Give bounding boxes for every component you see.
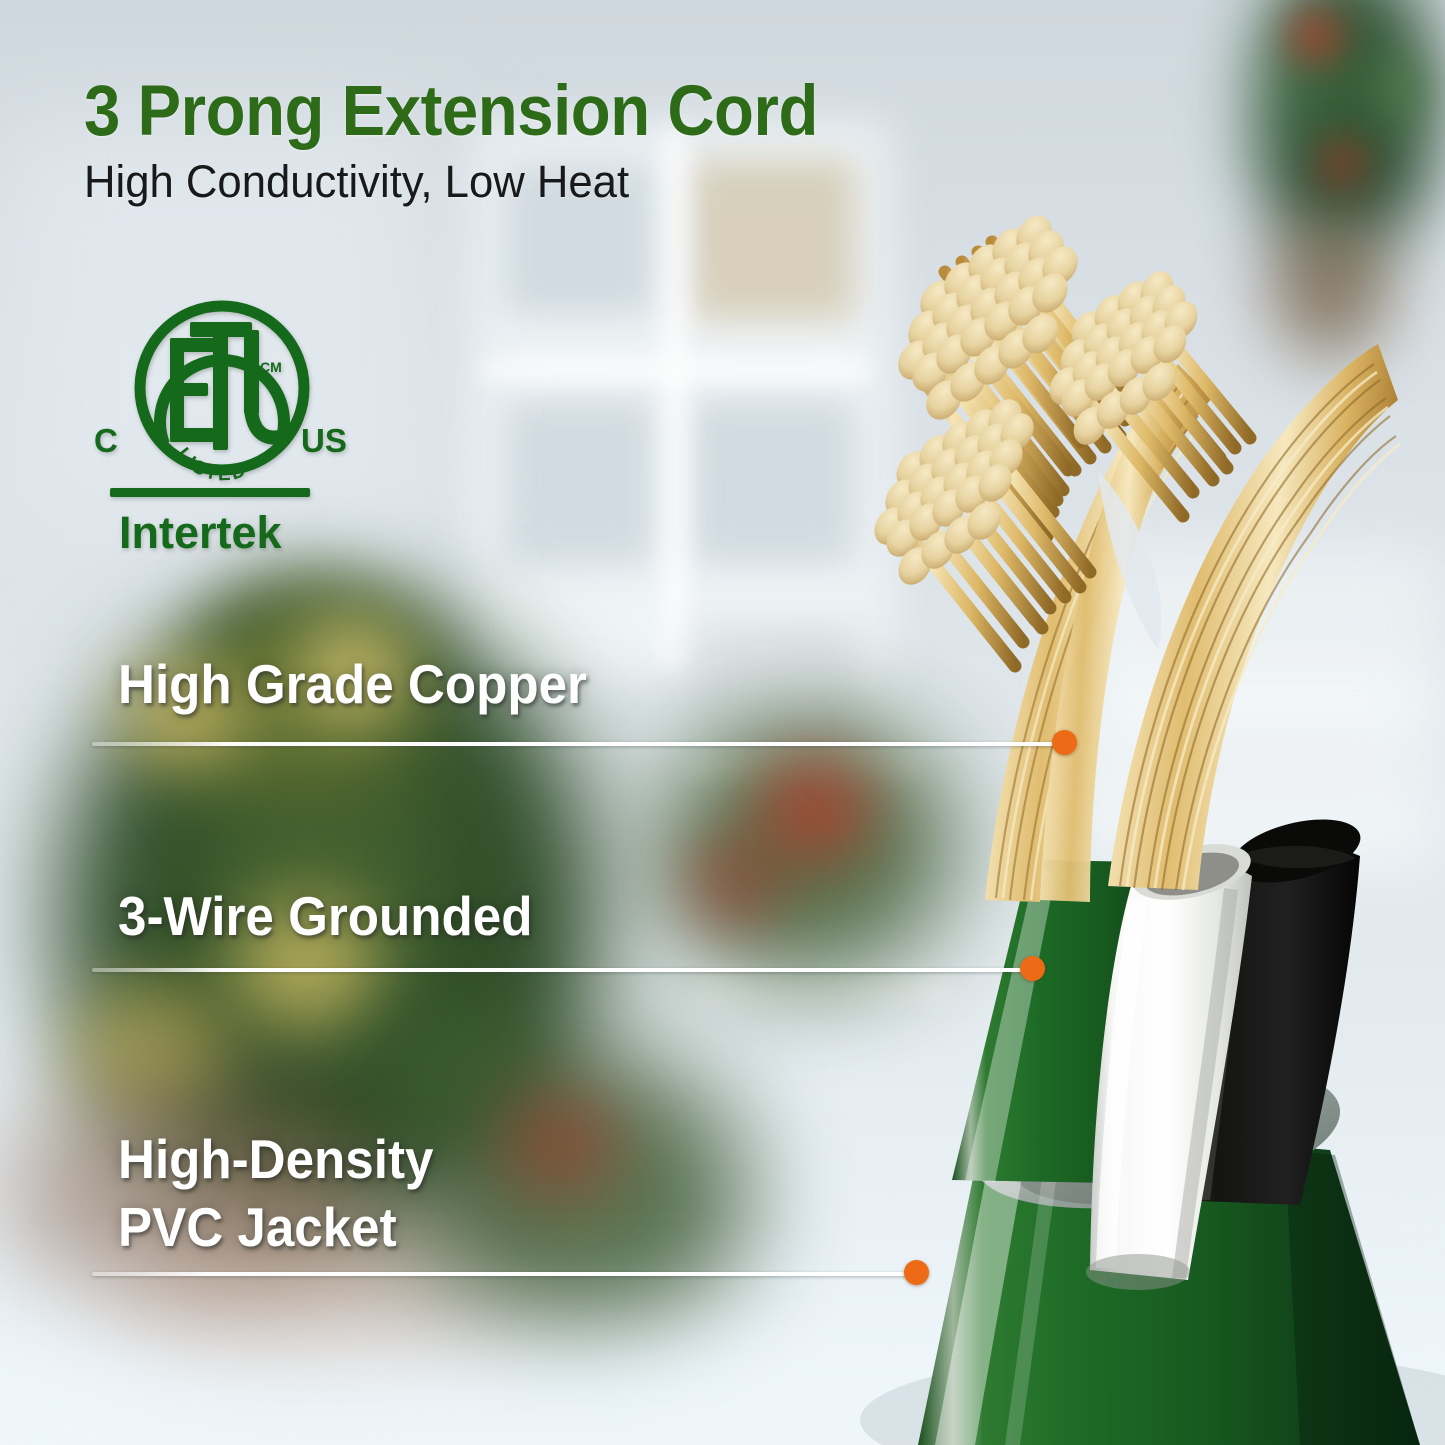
feature-label-pvc-line2: PVC Jacket [118, 1196, 397, 1258]
feature-label-pvc-line1: High-Density [118, 1128, 433, 1190]
page-subtitle: High Conductivity, Low Heat [84, 159, 858, 204]
etl-region-c: C [94, 422, 118, 459]
etl-divider [110, 488, 310, 497]
feature-leader-dot-1 [1052, 730, 1077, 755]
headline-block: 3 Prong Extension Cord High Conductivity… [84, 76, 882, 204]
product-infographic: 3 Prong Extension Cord High Conductivity… [0, 0, 1445, 1445]
etl-region-us: US [301, 422, 347, 459]
feature-leader-line-3 [92, 1272, 916, 1276]
feature-label-3-wire-grounded: 3-Wire Grounded [118, 885, 532, 947]
feature-label-high-grade-copper: High Grade Copper [118, 653, 587, 715]
feature-leader-dot-3 [904, 1260, 929, 1285]
etl-cm-superscript: CM [260, 359, 282, 375]
etl-intertek-certification-mark: CM C US LISTED Intertek [86, 292, 358, 560]
copper-strand-bundle-upper-right [1043, 265, 1250, 516]
etl-listed-text: LISTED [172, 444, 250, 485]
feature-leader-line-1 [92, 742, 1064, 746]
intertek-wordmark: Intertek [119, 507, 283, 558]
feature-leader-line-2 [92, 968, 1032, 972]
feature-leader-dot-2 [1020, 956, 1045, 981]
page-title: 3 Prong Extension Cord [84, 76, 818, 147]
